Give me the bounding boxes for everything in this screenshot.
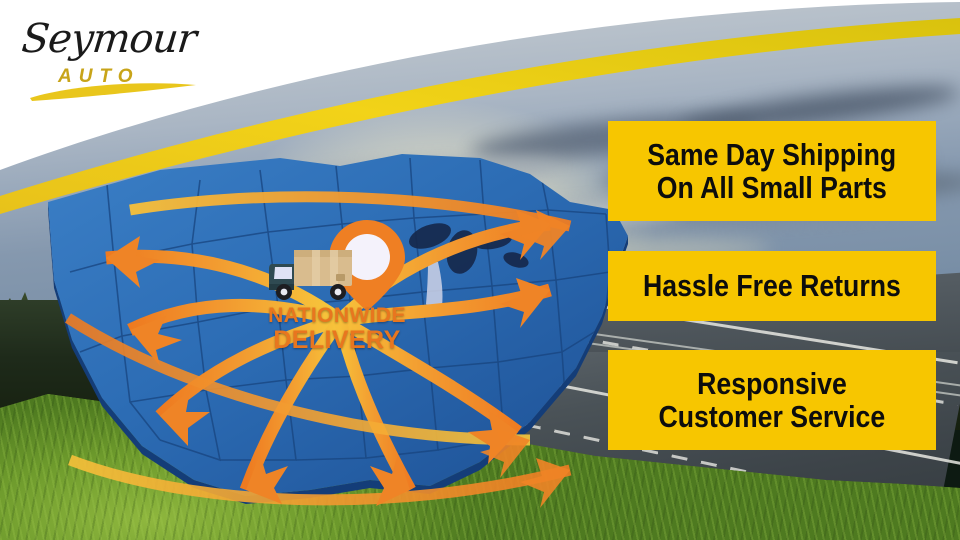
callout-banner-responsive-customer-service[interactable]: Responsive Customer Service: [608, 350, 936, 450]
callout-banner-hassle-free-returns[interactable]: Hassle Free Returns: [608, 251, 936, 321]
nationwide-line: NATIONWIDE: [252, 305, 422, 327]
banner-line: On All Small Parts: [657, 171, 887, 204]
promo-banner-stage: NATIONWIDE DELIVERY Seymour AUTO Same Da…: [0, 0, 960, 540]
banner-line: Customer Service: [659, 400, 886, 433]
banner-line: Same Day Shipping: [648, 138, 897, 171]
callout-banner-same-day-shipping[interactable]: Same Day Shipping On All Small Parts: [608, 121, 936, 221]
banner-line: Hassle Free Returns: [643, 269, 901, 302]
nationwide-delivery-label: NATIONWIDE DELIVERY: [252, 305, 422, 354]
seymour-auto-logo[interactable]: Seymour AUTO: [22, 14, 202, 96]
logo-subtitle: AUTO: [58, 66, 139, 88]
banner-line: Responsive: [697, 367, 847, 400]
logo-wordmark: Seymour: [20, 16, 198, 62]
delivery-truck-icon: [268, 246, 363, 306]
delivery-line: DELIVERY: [252, 327, 422, 354]
